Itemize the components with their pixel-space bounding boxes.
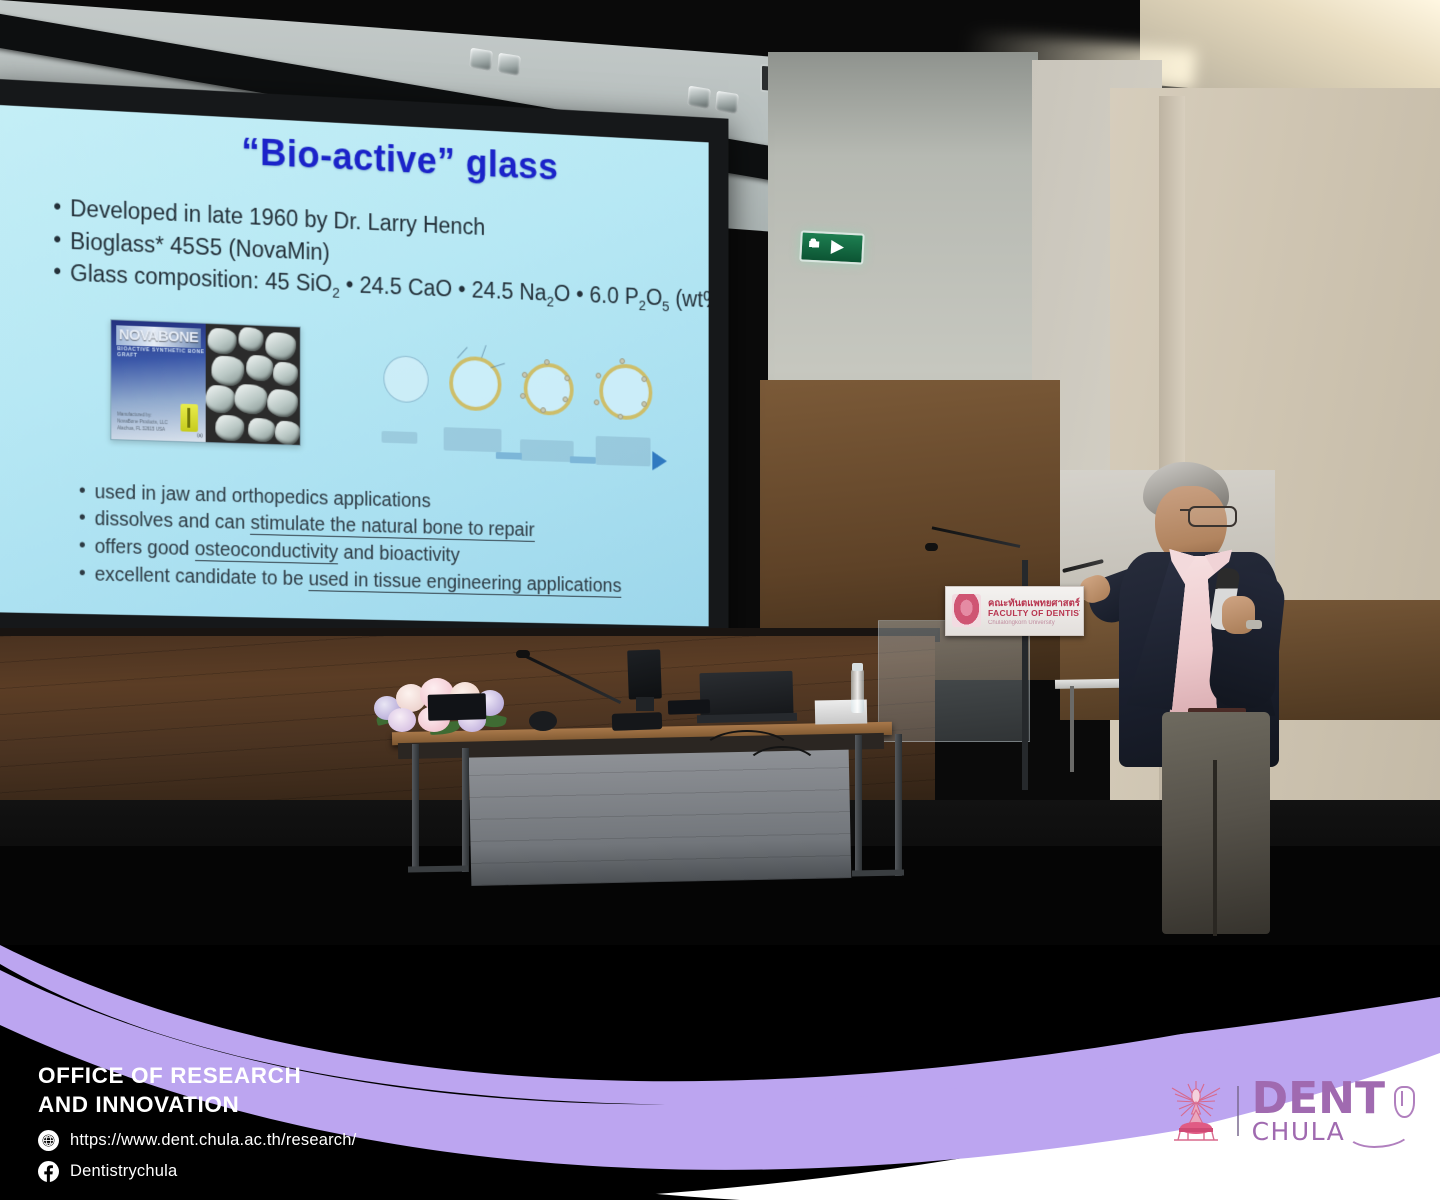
bullet-underlined: used in tissue engineering applications [309,568,622,597]
granule [273,362,298,386]
granule [235,384,268,415]
slide-bottom-bullets: used in jaw and orthopedics applications… [40,477,709,602]
laser-pointer [1062,559,1104,573]
ceiling-spotlight [715,91,739,114]
bullet-text-post: and bioactivity [338,542,460,566]
podium-sign-english: FACULTY OF DENTISTRY [988,608,1080,618]
logo-dent-text: DENT [1252,1078,1385,1119]
flower [388,708,416,732]
laptop [699,671,793,717]
projection-screen: “Bio-active” glass Developed in late 196… [0,105,709,627]
granule [267,389,298,417]
granule [246,355,273,381]
slide-title: “Bio-active” glass [241,132,558,190]
footer-title: OFFICE OF RESEARCH AND INNOVATION [38,1062,356,1120]
comp-sub1: 2 [332,285,340,301]
bullet-underlined: osteoconductivity [195,538,338,564]
desk-rail [852,870,904,877]
power-cable [744,746,820,868]
bullet-text: dissolves and can [95,508,251,534]
bullet-text: offers good [95,536,195,560]
logo-divider [1237,1086,1239,1136]
presenter [1062,460,1312,940]
chulalongkorn-emblem-icon [1168,1080,1224,1142]
novabone-tagline: BIOACTIVE SYNTHETIC BONE GRAFT [117,346,205,361]
arrow-right-icon [831,240,845,255]
desk-leg [855,735,862,875]
surface-cap [594,399,600,405]
granule [206,385,235,414]
diagram-stage-2-particle [449,356,501,412]
granule [238,327,263,352]
granule-micrograph [206,324,300,445]
website-url[interactable]: https://www.dent.chula.ac.th/research/ [70,1131,356,1150]
website-row[interactable]: https://www.dent.chula.ac.th/research/ [38,1130,356,1151]
desk-leg [412,744,419,872]
granule [265,332,296,361]
comp-suffix: (wt%) [669,286,708,313]
podium [878,620,1030,742]
stage-label [444,427,502,452]
footer-text-block: OFFICE OF RESEARCH AND INNOVATION https:… [38,1062,356,1182]
comp-sub3: 2 [639,298,646,314]
presentation-slide: “Bio-active” glass Developed in late 196… [0,105,709,627]
slide-top-bullets: Developed in late 1960 by Dr. Larry Henc… [14,191,709,321]
surface-cap [563,396,569,402]
stage-label [520,439,574,462]
chulalongkorn-emblem-icon [952,594,981,627]
water-bottle-cap [852,663,863,671]
facebook-icon [38,1161,59,1182]
podium-microphone-head [925,543,938,551]
comp-mid1: • 24.5 CaO • 24.5 Na [340,272,547,306]
ceiling-spotlight [469,48,493,71]
facebook-row[interactable]: Dentistrychula [38,1161,356,1182]
granule [208,328,237,355]
facebook-handle[interactable]: Dentistrychula [70,1162,177,1181]
projection-screen-frame: “Bio-active” glass Developed in late 196… [0,78,728,651]
trouser-seam [1213,760,1217,936]
eyeglasses-temple [1180,509,1191,511]
cable-bundle [668,699,710,714]
novabone-address: Manufactured by: NovaBone Products, LLC … [117,410,168,433]
water-bottle [851,669,864,713]
diagram-stage-1-particle [383,355,428,403]
surface-cap [544,359,550,365]
novabone-panel-label: (a) [197,433,203,439]
novabone-syringe [181,404,198,432]
footer-title-line2: AND INNOVATION [38,1091,356,1120]
microphone-receiver [612,712,663,731]
stage-arrow-bar [496,452,522,460]
comp-mid2: O • 6.0 P [554,281,639,310]
ion-leader-line [481,345,486,358]
monitor-stand [636,697,654,711]
ceiling-spotlight [497,53,521,76]
surface-cap [620,358,625,364]
diagram-stage-3-particle [524,362,574,416]
novabone-package: NOVABONE BIOACTIVE SYNTHETIC BONE GRAFT … [111,320,205,442]
globe-icon [38,1130,59,1151]
stage-arrow-bar [570,456,596,464]
desktop-monitor [627,649,662,699]
diagram-stage-4-particle [599,363,652,420]
desk-leg [895,734,902,876]
surface-cap [641,401,646,407]
bullet-text: excellent candidate to be [95,563,309,589]
surface-cap [641,376,646,382]
dissolution-diagram [380,347,685,483]
bullet-underlined: stimulate the natural bone to repair [250,512,534,542]
surface-cap [520,393,526,399]
table-microphone-base [529,711,557,731]
surface-cap [618,414,623,420]
flow-arrow-icon [652,451,667,471]
photograph: “Bio-active” glass Developed in late 196… [0,0,1440,945]
novabone-product-image: NOVABONE BIOACTIVE SYNTHETIC BONE GRAFT … [110,319,300,446]
lecture-photo-card: “Bio-active” glass Developed in late 196… [0,0,1440,1200]
gooseneck-microphone-head [516,650,530,658]
faculty-podium-sign: คณะทันตแพทยศาสตร์ FACULTY OF DENTISTRY C… [945,586,1084,636]
logo-wordmark: DENT CHULA [1252,1078,1385,1144]
surface-cap [564,375,570,381]
av-equipment [428,693,487,721]
comp-sub4: 5 [662,299,669,315]
running-man-icon [809,238,820,254]
stage-label [596,436,651,466]
footer-title-line1: OFFICE OF RESEARCH [38,1062,356,1091]
comp-sub2: 2 [547,294,554,310]
surface-cap [540,407,546,413]
desk-leg [462,748,469,872]
stage-label [382,431,418,444]
desk-rail [408,865,468,872]
novabone-brand: NOVABONE [116,325,201,348]
eyeglasses [1188,506,1237,527]
tooth-icon [1394,1086,1415,1118]
wristwatch [1246,620,1262,629]
granule [215,415,244,442]
granule [211,356,244,387]
dent-chula-logo: DENT CHULA [1168,1078,1385,1144]
podium-sign-university: Chulalongkorn University [988,620,1080,626]
granule [275,421,300,445]
surface-cap [596,373,602,379]
comp-mid3: O [646,285,662,311]
granule [248,418,275,442]
exit-sign [799,230,865,264]
ceiling-spotlight [687,86,711,109]
surface-cap [522,372,528,378]
